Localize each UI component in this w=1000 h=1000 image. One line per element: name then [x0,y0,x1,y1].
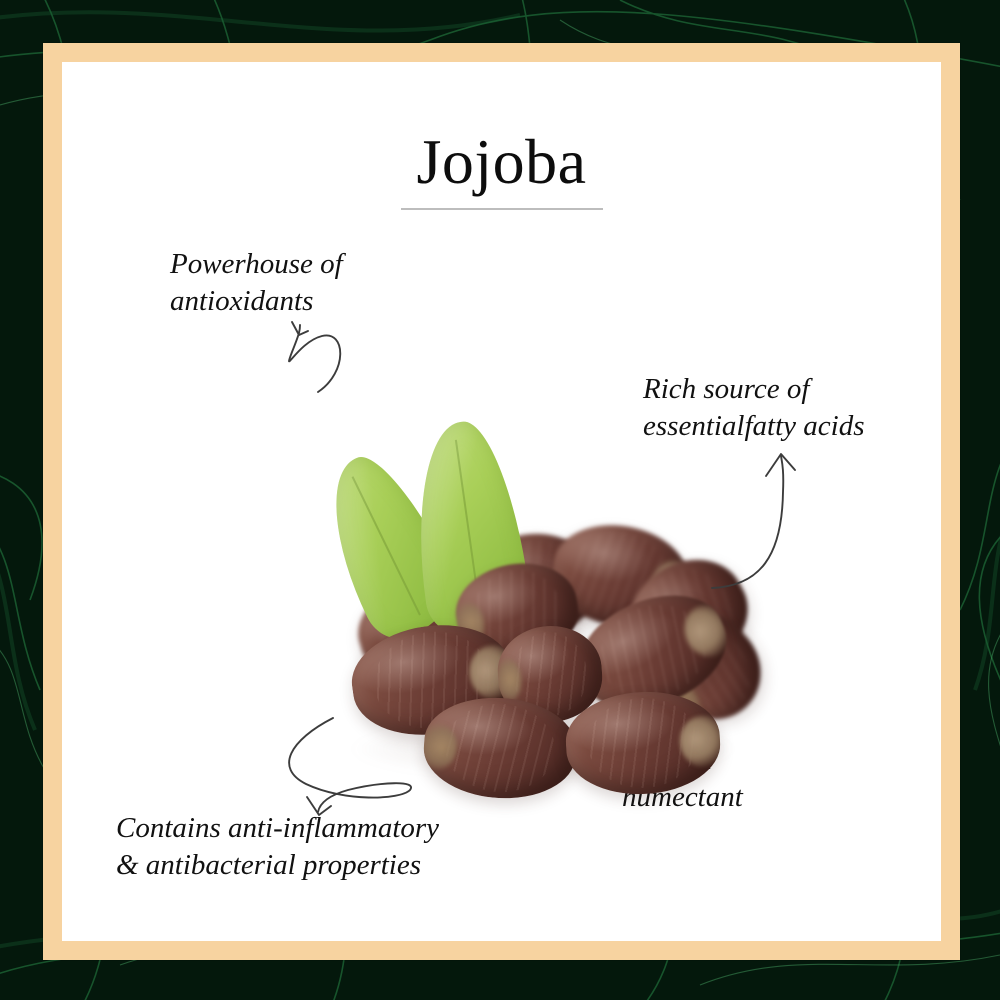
page-title: Jojoba [416,130,586,202]
annotation-fatty-acids: Rich source of essentialfatty acids [643,371,865,445]
annotation-antioxidants: Powerhouse of antioxidants [170,246,343,320]
annotation-anti-inflammatory: Contains anti-inflammatory & antibacteri… [116,810,439,884]
title-underline-rule [401,208,603,210]
seed-ridges [442,700,557,795]
leaf-vein [351,476,420,616]
jojoba-seeds-photo [330,414,760,814]
page-title-block: Jojoba [62,130,941,210]
poster-canvas: Jojoba [0,0,1000,1000]
